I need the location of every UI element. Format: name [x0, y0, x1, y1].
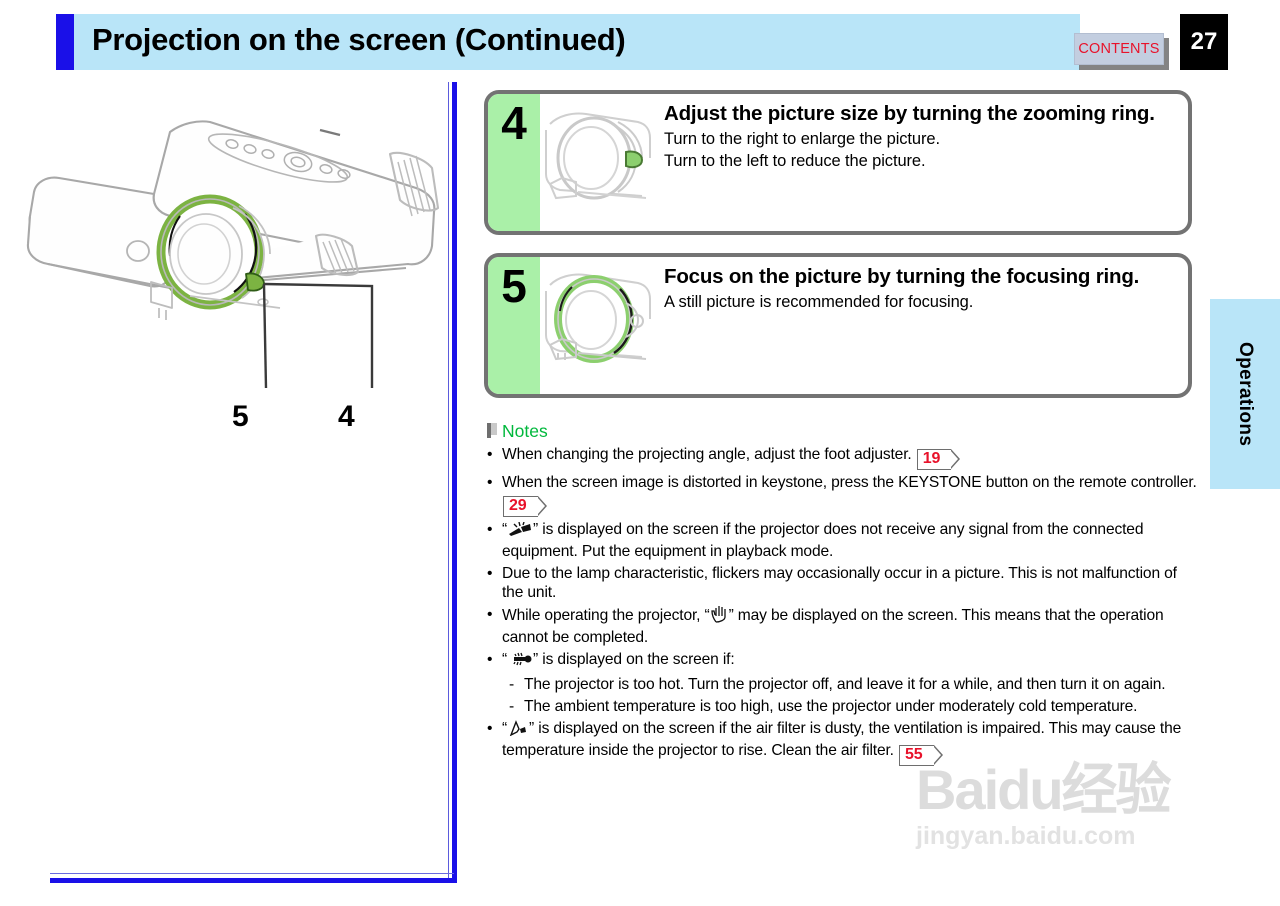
note-quote-open: “ [502, 720, 507, 737]
hand-icon [711, 605, 728, 628]
note-text: When the screen image is distorted in ke… [502, 473, 1197, 517]
note-body: When changing the projecting angle, adju… [502, 446, 912, 463]
note-bullet: • [487, 605, 502, 647]
notes-header: Notes [487, 420, 1197, 442]
watermark-logo: Baidu经验 [916, 762, 1236, 818]
contents-button-label: CONTENTS [1078, 41, 1159, 57]
note-bullet: - [509, 697, 524, 716]
step-body-line-1: Turn to the right to enlarge the picture… [664, 129, 1178, 151]
note-item: • When changing the projecting angle, ad… [487, 445, 1197, 470]
focus-ring-illustration-icon [542, 263, 654, 379]
note-quote-open: “ [502, 651, 507, 668]
note-text: When changing the projecting angle, adju… [502, 445, 1197, 470]
step-number: 5 [501, 263, 527, 309]
page-number-badge: 27 [1180, 14, 1228, 70]
step-body-line-2: Turn to the left to reduce the picture. [664, 151, 1178, 173]
note-body: ” is displayed on the screen if the air … [502, 720, 1181, 759]
callout-label-5: 5 [232, 400, 249, 434]
no-signal-icon [508, 522, 532, 542]
note-item: • “” is displayed on the screen if the p… [487, 520, 1197, 561]
note-body: While operating the projector, “ [502, 607, 710, 624]
note-body: ” is displayed on the screen if: [533, 651, 735, 668]
header-accent-bar [56, 14, 74, 70]
side-tab-label: Operations [1234, 342, 1256, 446]
bottom-divider-thin [50, 873, 454, 874]
note-flag-icon [487, 423, 497, 439]
note-subitem: - The ambient temperature is too high, u… [509, 697, 1197, 716]
watermark-url: jingyan.baidu.com [916, 822, 1236, 851]
page-number-label: 27 [1191, 28, 1218, 56]
page-reference-link[interactable]: 29 [503, 496, 538, 517]
page-reference-link[interactable]: 19 [917, 449, 952, 470]
note-item: • “” is displayed on the screen if the a… [487, 719, 1197, 766]
note-bullet: - [509, 675, 524, 694]
note-bullet: • [487, 719, 502, 766]
page-reference-link[interactable]: 55 [899, 745, 934, 766]
note-item: • “” is displayed on the screen if: [487, 650, 1197, 672]
step-text-block: Adjust the picture size by turning the z… [664, 102, 1178, 173]
bottom-divider-thick [50, 878, 457, 883]
note-bullet: • [487, 445, 502, 470]
note-text: “” is displayed on the screen if: [502, 650, 1197, 672]
step-box-5: 5 Focus on the picture by turning the fo… [484, 253, 1192, 398]
note-body: ” is displayed on the screen if the proj… [502, 521, 1143, 560]
side-tab-operations[interactable]: Operations [1210, 299, 1280, 489]
step-number-strip: 5 [488, 257, 540, 394]
note-quote-open: “ [502, 521, 507, 538]
note-bullet: • [487, 564, 502, 602]
note-text: The projector is too hot. Turn the proje… [524, 675, 1197, 694]
projector-illustration [20, 96, 450, 446]
note-bullet: • [487, 520, 502, 561]
step-text-block: Focus on the picture by turning the focu… [664, 265, 1178, 314]
note-text: “” is displayed on the screen if the air… [502, 719, 1197, 766]
note-body: When the screen image is distorted in ke… [502, 474, 1197, 491]
notes-title: Notes [502, 421, 548, 442]
note-bullet: • [487, 650, 502, 672]
step-heading: Focus on the picture by turning the focu… [664, 265, 1178, 289]
vertical-divider-thick [452, 82, 457, 882]
note-text: The ambient temperature is too high, use… [524, 697, 1197, 716]
callout-label-4: 4 [338, 400, 355, 434]
step-number: 4 [501, 100, 527, 146]
step-number-strip: 4 [488, 94, 540, 231]
note-item: • When the screen image is distorted in … [487, 473, 1197, 517]
note-item: • While operating the projector, “” may … [487, 605, 1197, 647]
air-filter-icon [508, 720, 528, 741]
note-bullet: • [487, 473, 502, 517]
note-item: • Due to the lamp characteristic, flicke… [487, 564, 1197, 602]
note-text: Due to the lamp characteristic, flickers… [502, 564, 1197, 602]
watermark: Baidu经验 jingyan.baidu.com [916, 762, 1236, 862]
note-text: “” is displayed on the screen if the pro… [502, 520, 1197, 561]
note-text: While operating the projector, “” may be… [502, 605, 1197, 647]
note-subitem: - The projector is too hot. Turn the pro… [509, 675, 1197, 694]
thermometer-icon [508, 652, 532, 672]
contents-button[interactable]: CONTENTS [1074, 33, 1164, 65]
step-box-4: 4 Adjust the picture size by turning the… [484, 90, 1192, 235]
step-body-line-1: A still picture is recommended for focus… [664, 292, 1178, 314]
page-title: Projection on the screen (Continued) [92, 22, 625, 58]
zoom-ring-illustration-icon [542, 100, 654, 216]
notes-section: Notes • When changing the projecting ang… [487, 420, 1197, 766]
step-heading: Adjust the picture size by turning the z… [664, 102, 1178, 126]
